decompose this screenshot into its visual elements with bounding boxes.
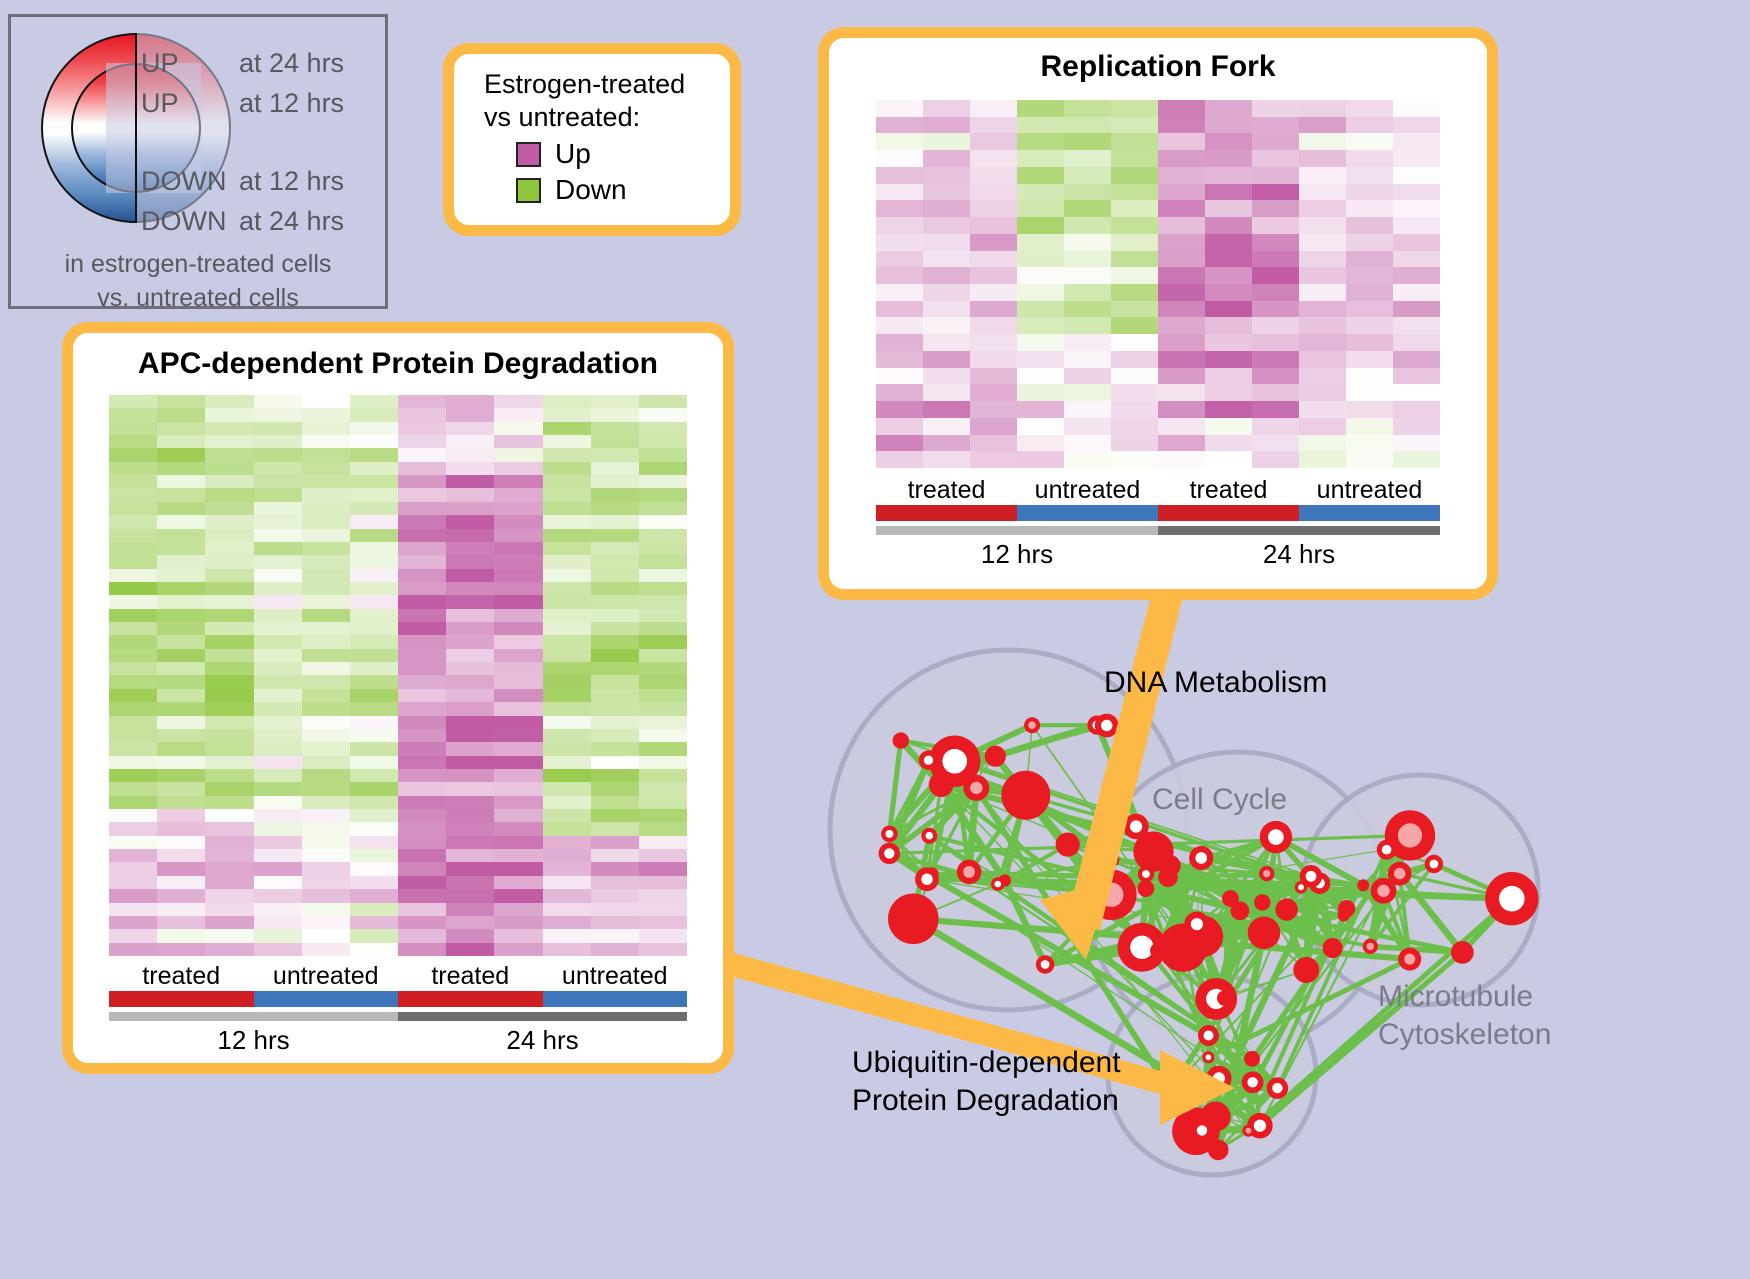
network-node[interactable] bbox=[1244, 1051, 1260, 1067]
network-edge bbox=[1333, 915, 1344, 948]
network-edge bbox=[1400, 874, 1410, 960]
network-node[interactable] bbox=[1248, 1079, 1261, 1092]
network-node[interactable] bbox=[1137, 880, 1154, 897]
network-edge bbox=[1026, 725, 1032, 795]
network-edge bbox=[1311, 876, 1333, 948]
network-edge bbox=[901, 741, 996, 757]
network-edge bbox=[1136, 827, 1146, 875]
network-node[interactable] bbox=[1242, 1071, 1264, 1093]
network-edge bbox=[1170, 866, 1203, 937]
network-edge bbox=[1111, 860, 1112, 895]
network-edge bbox=[998, 884, 1112, 895]
network-node-core bbox=[1306, 871, 1317, 882]
network-edge bbox=[1208, 1057, 1218, 1150]
network-edge bbox=[955, 761, 977, 788]
time-label: 12 hrs bbox=[109, 1025, 398, 1056]
network-edge bbox=[969, 872, 1005, 881]
network-node[interactable] bbox=[1208, 1140, 1229, 1161]
network-node[interactable] bbox=[1222, 890, 1239, 907]
network-node[interactable] bbox=[963, 775, 989, 801]
network-node-core bbox=[1028, 721, 1036, 729]
network-node-core bbox=[1499, 886, 1525, 912]
network-node[interactable] bbox=[1260, 821, 1292, 853]
network-edge bbox=[969, 872, 1363, 885]
network-edge bbox=[913, 881, 1005, 919]
network-edge bbox=[1276, 837, 1344, 915]
network-edge bbox=[1196, 1057, 1208, 1131]
network-node[interactable] bbox=[1217, 990, 1233, 1006]
key-time-label: at 24 hrs bbox=[239, 201, 344, 241]
network-edge bbox=[1196, 1078, 1219, 1131]
network-node[interactable] bbox=[1425, 855, 1443, 873]
legend-title-line1: Estrogen-treated bbox=[484, 68, 730, 101]
network-edge bbox=[929, 760, 955, 761]
timepoint-color-bars bbox=[109, 1012, 687, 1021]
network-edge bbox=[1384, 835, 1411, 890]
network-edge bbox=[1202, 1126, 1260, 1131]
network-node-core bbox=[1191, 918, 1203, 930]
network-edge bbox=[1171, 910, 1287, 1090]
network-edge bbox=[1202, 1036, 1209, 1131]
network-edge bbox=[1384, 891, 1410, 959]
group-color-bar bbox=[543, 991, 688, 1007]
network-edge bbox=[1026, 795, 1113, 860]
network-edge bbox=[913, 836, 929, 919]
network-node[interactable] bbox=[1001, 771, 1050, 820]
time-label: 12 hrs bbox=[876, 539, 1158, 570]
network-edge bbox=[1301, 887, 1347, 908]
network-edge bbox=[1202, 1078, 1219, 1130]
network-edge bbox=[1201, 837, 1276, 858]
network-edge bbox=[1216, 970, 1306, 999]
network-edge bbox=[901, 741, 941, 785]
network-edge bbox=[932, 874, 1311, 876]
group-label: treated bbox=[876, 476, 1017, 505]
network-edge bbox=[889, 834, 932, 874]
network-node[interactable] bbox=[1118, 923, 1167, 972]
network-node-core bbox=[970, 782, 982, 794]
network-node[interactable] bbox=[1357, 879, 1369, 891]
network-edge bbox=[1311, 876, 1320, 883]
network-node[interactable] bbox=[1024, 717, 1040, 733]
network-node[interactable] bbox=[1242, 1125, 1254, 1137]
network-edge bbox=[1301, 883, 1320, 887]
network-edge bbox=[1252, 1059, 1260, 1126]
network-edge bbox=[1068, 845, 1113, 860]
network-edge bbox=[1197, 924, 1218, 1150]
network-edge bbox=[1170, 866, 1267, 874]
network-edge bbox=[927, 872, 969, 879]
network-edge bbox=[889, 788, 976, 854]
network-edge bbox=[1264, 837, 1276, 933]
network-node[interactable] bbox=[1451, 941, 1474, 964]
network-node-core bbox=[1206, 989, 1226, 1009]
network-node-core bbox=[1377, 885, 1389, 897]
network-node[interactable] bbox=[1133, 831, 1173, 871]
network-edge bbox=[1262, 902, 1346, 908]
network-edge bbox=[1170, 866, 1231, 899]
network-edge bbox=[1168, 837, 1276, 877]
network-edge bbox=[1146, 850, 1387, 889]
network-edge bbox=[1183, 924, 1197, 948]
network-node[interactable] bbox=[985, 746, 1006, 767]
network-edge bbox=[889, 853, 998, 884]
network-edge bbox=[1209, 1036, 1216, 1117]
network-edge bbox=[1347, 885, 1364, 908]
network-edge bbox=[1197, 887, 1301, 924]
network-edge bbox=[1158, 924, 1197, 950]
network-edge bbox=[1230, 874, 1266, 899]
network-edge bbox=[1230, 899, 1240, 911]
key-time-label: at 24 hrs bbox=[239, 43, 344, 83]
network-edge bbox=[1370, 891, 1383, 947]
network-edge bbox=[932, 761, 955, 874]
network-edge bbox=[1136, 827, 1153, 852]
network-node[interactable] bbox=[1138, 866, 1154, 882]
network-edge bbox=[1168, 874, 1267, 878]
network-node[interactable] bbox=[999, 874, 1011, 886]
network-edge bbox=[941, 785, 1026, 796]
network-node[interactable] bbox=[1275, 898, 1297, 920]
key-time-label: at 12 hrs bbox=[239, 83, 344, 123]
network-edge bbox=[1045, 936, 1202, 964]
network-node[interactable] bbox=[1293, 957, 1319, 983]
network-edge bbox=[1146, 889, 1158, 951]
network-edge bbox=[1202, 936, 1216, 999]
network-edge bbox=[1363, 874, 1400, 886]
network-edge bbox=[1400, 835, 1410, 873]
network-node-core bbox=[1430, 860, 1439, 869]
network-edge bbox=[1333, 909, 1347, 948]
group-color-bar bbox=[876, 505, 1017, 521]
network-edge bbox=[1171, 1036, 1209, 1090]
network-node[interactable] bbox=[1309, 872, 1331, 894]
network-edge bbox=[1267, 874, 1301, 888]
network-edge bbox=[1202, 874, 1266, 937]
network-node[interactable] bbox=[1363, 939, 1378, 954]
network-edge bbox=[1158, 951, 1216, 999]
network-node[interactable] bbox=[991, 877, 1005, 891]
network-node[interactable] bbox=[1385, 810, 1435, 860]
network-edge bbox=[929, 788, 976, 836]
network-edge bbox=[1264, 910, 1287, 933]
network-node[interactable] bbox=[1200, 1102, 1230, 1132]
cluster-label-dna-metabolism: DNA Metabolism bbox=[1104, 666, 1327, 700]
network-edge bbox=[1320, 883, 1333, 948]
network-node[interactable] bbox=[1056, 833, 1080, 857]
network-node[interactable] bbox=[1198, 1025, 1219, 1046]
network-edge bbox=[1202, 1059, 1252, 1131]
apc-degradation-axis: treateduntreatedtreateduntreated 12 hrs2… bbox=[109, 962, 687, 1056]
network-edge bbox=[927, 785, 941, 880]
network-node[interactable] bbox=[1323, 938, 1343, 958]
network-edge bbox=[1171, 1090, 1197, 1131]
connector-replication-fork-arrowhead bbox=[1040, 880, 1110, 960]
network-edge bbox=[1218, 1078, 1219, 1150]
network-node[interactable] bbox=[1189, 846, 1213, 870]
network-node-core bbox=[1404, 954, 1415, 965]
network-node-core bbox=[1130, 936, 1153, 959]
network-edge bbox=[1255, 915, 1344, 1085]
treatment-color-bars bbox=[876, 505, 1440, 521]
network-edge bbox=[927, 879, 1264, 933]
network-edge bbox=[1240, 891, 1384, 911]
legend-title-line2: vs untreated: bbox=[484, 101, 730, 134]
network-edge bbox=[1216, 1059, 1253, 1117]
network-edge bbox=[1183, 948, 1192, 951]
network-edge bbox=[1208, 1057, 1254, 1085]
network-edge bbox=[969, 872, 1383, 891]
network-node[interactable] bbox=[1267, 1077, 1289, 1099]
network-node[interactable] bbox=[957, 860, 982, 885]
network-edge bbox=[1387, 850, 1434, 864]
network-edge bbox=[1230, 899, 1332, 949]
network-node-core bbox=[1167, 1086, 1174, 1093]
network-edge bbox=[1171, 1082, 1253, 1090]
key-footer-line1: in estrogen-treated cells bbox=[11, 247, 385, 281]
network-node[interactable] bbox=[1231, 901, 1250, 920]
group-label: untreated bbox=[1299, 476, 1440, 505]
network-node[interactable] bbox=[1191, 1120, 1213, 1142]
network-node-core bbox=[1246, 1128, 1252, 1134]
network-node[interactable] bbox=[1338, 909, 1350, 921]
network-edge bbox=[1192, 933, 1264, 950]
network-edge bbox=[1068, 845, 1154, 852]
network-node[interactable] bbox=[1123, 814, 1148, 839]
network-edge bbox=[1197, 902, 1262, 924]
network-edge bbox=[1248, 909, 1346, 1131]
network-edge bbox=[1202, 1088, 1277, 1130]
network-edge bbox=[1158, 933, 1264, 951]
network-node[interactable] bbox=[1172, 1107, 1220, 1155]
network-edge bbox=[1201, 858, 1202, 936]
network-node[interactable] bbox=[1295, 881, 1308, 894]
network-node[interactable] bbox=[1398, 948, 1421, 971]
network-edge bbox=[1142, 889, 1146, 948]
key-row: UP at 24 hrs bbox=[141, 43, 381, 83]
network-node[interactable] bbox=[1247, 1113, 1273, 1139]
network-edge bbox=[1208, 1057, 1260, 1125]
group-label: treated bbox=[398, 962, 543, 991]
network-edge bbox=[1202, 899, 1230, 937]
network-node[interactable] bbox=[888, 894, 939, 945]
network-edge bbox=[1196, 910, 1287, 1132]
time-label: 24 hrs bbox=[1158, 539, 1440, 570]
network-edge bbox=[1216, 910, 1286, 999]
network-edge bbox=[1209, 1036, 1249, 1131]
group-label: untreated bbox=[1017, 476, 1158, 505]
network-node[interactable] bbox=[1202, 1051, 1214, 1063]
network-node[interactable] bbox=[1259, 866, 1274, 881]
network-edge bbox=[1240, 837, 1276, 911]
network-edge bbox=[1370, 850, 1386, 947]
network-edge bbox=[1005, 881, 1045, 965]
network-node[interactable] bbox=[915, 867, 939, 891]
network-edge bbox=[1219, 1078, 1260, 1125]
network-node[interactable] bbox=[1184, 912, 1209, 937]
legend-item-down: Down bbox=[516, 174, 730, 206]
network-edge bbox=[1142, 947, 1158, 950]
network-edge bbox=[1462, 899, 1512, 953]
network-edge bbox=[1262, 902, 1286, 909]
network-edge bbox=[1225, 902, 1262, 998]
network-edge bbox=[1201, 858, 1383, 891]
network-edge bbox=[1264, 915, 1344, 932]
network-node[interactable] bbox=[1150, 943, 1166, 959]
key-row: DOWN at 12 hrs bbox=[141, 161, 381, 201]
network-edge bbox=[1384, 850, 1387, 891]
down-color-swatch bbox=[516, 178, 541, 203]
network-node[interactable] bbox=[1105, 853, 1119, 867]
network-node-core bbox=[1204, 1031, 1214, 1041]
network-node[interactable] bbox=[1254, 894, 1270, 910]
network-edge bbox=[1192, 924, 1197, 950]
network-edge bbox=[1171, 1090, 1249, 1131]
network-node[interactable] bbox=[1095, 714, 1119, 738]
network-node-core bbox=[1298, 884, 1304, 890]
color-legend-card: Estrogen-treated vs untreated: Up Down bbox=[443, 43, 741, 236]
network-edge bbox=[1068, 845, 1146, 874]
network-node[interactable] bbox=[1182, 940, 1203, 961]
network-node[interactable] bbox=[921, 828, 937, 844]
network-edge bbox=[969, 795, 1026, 872]
network-edge bbox=[1045, 885, 1363, 964]
network-edge bbox=[1158, 858, 1201, 951]
network-edge bbox=[1209, 1036, 1253, 1083]
network-edge bbox=[1202, 910, 1286, 937]
apc-degradation-heatmap bbox=[109, 395, 687, 956]
expression-key-box: UP at 24 hrs UP at 12 hrs DOWN at 12 hrs… bbox=[8, 14, 388, 309]
network-edge bbox=[1146, 889, 1463, 953]
cluster-label-microtubule-cytoskeleton: Microtubule Cytoskeleton bbox=[1378, 978, 1551, 1054]
network-edge bbox=[1196, 1036, 1209, 1132]
network-edge bbox=[1005, 795, 1026, 880]
network-edge bbox=[995, 725, 1097, 756]
network-edge bbox=[1370, 864, 1434, 946]
network-edge bbox=[1005, 845, 1068, 881]
group-color-bar bbox=[1017, 505, 1158, 521]
network-edge bbox=[1262, 902, 1332, 948]
network-edge bbox=[1216, 1085, 1255, 1116]
network-edge bbox=[1311, 876, 1344, 915]
network-edge bbox=[1201, 858, 1311, 876]
network-edge bbox=[1005, 881, 1512, 899]
network-node-core bbox=[1130, 820, 1142, 832]
network-edge bbox=[889, 788, 976, 834]
network-node[interactable] bbox=[881, 826, 898, 843]
network-node[interactable] bbox=[1182, 916, 1224, 958]
cluster-label-ubiquitin-degradation: Ubiquitin-dependent Protein Degradation bbox=[852, 1044, 1121, 1120]
network-node[interactable] bbox=[926, 867, 939, 880]
network-node[interactable] bbox=[1248, 917, 1281, 950]
legend-item-up: Up bbox=[516, 138, 730, 170]
network-edge bbox=[1230, 899, 1343, 916]
network-edge bbox=[1248, 1085, 1254, 1130]
network-node[interactable] bbox=[1158, 867, 1178, 887]
network-node-core bbox=[1041, 960, 1050, 969]
network-node[interactable] bbox=[1036, 955, 1054, 973]
network-edge bbox=[1301, 887, 1333, 948]
network-node[interactable] bbox=[1163, 1082, 1178, 1097]
network-node[interactable] bbox=[1388, 862, 1412, 886]
network-node-core bbox=[1197, 1125, 1207, 1135]
network-edge bbox=[913, 919, 1409, 959]
network-edge bbox=[1306, 948, 1332, 970]
network-edge bbox=[1387, 835, 1410, 849]
network-node[interactable] bbox=[893, 732, 909, 748]
network-edge bbox=[1320, 883, 1347, 909]
network-node-core bbox=[1092, 721, 1101, 730]
network-node[interactable] bbox=[1087, 716, 1106, 735]
replication-fork-panel: Replication Fork treateduntreatedtreated… bbox=[818, 27, 1498, 600]
network-node-core bbox=[1398, 823, 1422, 847]
network-edge bbox=[1230, 837, 1276, 898]
ring-center-divider bbox=[135, 33, 137, 223]
group-color-bar bbox=[1158, 505, 1299, 521]
treatment-group-labels: treateduntreatedtreateduntreated bbox=[876, 476, 1440, 505]
network-edge bbox=[1168, 877, 1202, 936]
network-node[interactable] bbox=[1159, 855, 1181, 877]
network-edge bbox=[1005, 881, 1111, 895]
network-node-core bbox=[1272, 1083, 1282, 1093]
network-edge bbox=[1183, 910, 1287, 948]
network-node[interactable] bbox=[1371, 878, 1397, 904]
network-node[interactable] bbox=[929, 736, 980, 787]
network-edge bbox=[1142, 877, 1168, 947]
network-edge bbox=[1400, 874, 1512, 899]
network-node[interactable] bbox=[1195, 978, 1237, 1020]
network-edge bbox=[1209, 1036, 1278, 1089]
network-edge bbox=[1264, 876, 1311, 933]
network-edge bbox=[1154, 852, 1217, 999]
network-edge bbox=[1306, 876, 1311, 970]
network-edge bbox=[913, 874, 932, 919]
network-edge bbox=[1170, 866, 1192, 950]
network-node[interactable] bbox=[1485, 872, 1538, 925]
network-edge bbox=[929, 756, 995, 836]
network-edge bbox=[1192, 885, 1363, 950]
network-node[interactable] bbox=[1338, 900, 1355, 917]
group-label: treated bbox=[1158, 476, 1299, 505]
network-edge bbox=[889, 785, 941, 854]
network-edge bbox=[941, 785, 1168, 878]
network-edge bbox=[1276, 837, 1363, 885]
cluster-ellipse-0 bbox=[830, 650, 1186, 1010]
network-edge bbox=[1208, 1057, 1277, 1088]
network-node[interactable] bbox=[1300, 865, 1323, 888]
network-node[interactable] bbox=[1086, 869, 1137, 920]
network-edge bbox=[1026, 795, 1068, 844]
network-edge bbox=[1171, 1078, 1219, 1089]
network-edge bbox=[1400, 864, 1434, 874]
network-edge bbox=[1026, 795, 1136, 826]
network-node[interactable] bbox=[919, 751, 938, 770]
connector-replication-fork bbox=[1066, 600, 1182, 930]
group-color-bar bbox=[254, 991, 399, 1007]
apc-degradation-title: APC-dependent Protein Degradation bbox=[73, 333, 723, 381]
network-node[interactable] bbox=[929, 772, 954, 797]
network-edge bbox=[995, 726, 1106, 757]
network-edge bbox=[1202, 933, 1264, 937]
network-node[interactable] bbox=[1159, 924, 1207, 972]
network-edge bbox=[1196, 1130, 1202, 1131]
network-edge bbox=[927, 788, 976, 879]
network-node[interactable] bbox=[1206, 1066, 1231, 1091]
network-edge bbox=[1253, 1082, 1255, 1085]
network-node[interactable] bbox=[879, 843, 900, 864]
network-edge bbox=[889, 853, 1208, 1035]
network-node[interactable] bbox=[1377, 840, 1397, 860]
